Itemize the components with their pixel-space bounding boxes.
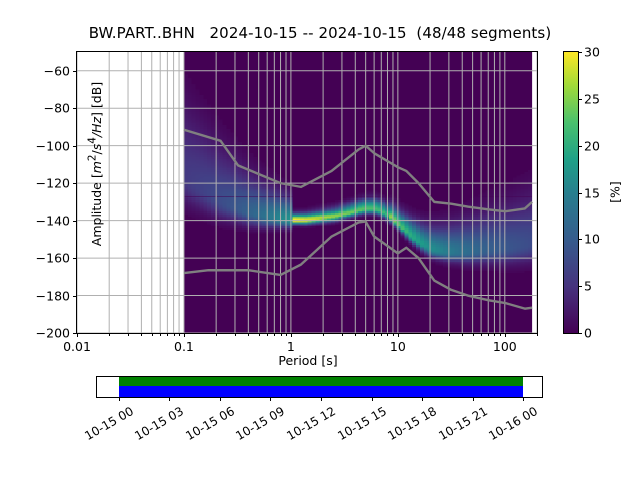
y-axis-tick-mark [73, 296, 77, 297]
x-axis-tick-label: 0.01 [63, 339, 91, 354]
x-axis-minor-tick-mark [381, 333, 382, 336]
y-axis-tick-mark [73, 108, 77, 109]
y-axis-label-exp2: 2 [87, 155, 99, 162]
colorbar-label: [%] [607, 181, 622, 203]
colorbar-tick-mark [578, 52, 582, 53]
coverage-tick-mark [372, 397, 373, 401]
x-axis-minor-tick-mark [259, 333, 260, 336]
x-axis-minor-tick-mark [430, 333, 431, 336]
x-axis-tick-mark [291, 333, 292, 337]
y-axis-tick-mark [73, 221, 77, 222]
coverage-tick-label: 10-15 18 [385, 404, 439, 443]
coverage-tick-mark [422, 397, 423, 401]
x-axis-tick-mark [398, 333, 399, 337]
x-axis-minor-tick-mark [323, 333, 324, 336]
x-axis-minor-tick-mark [109, 333, 110, 336]
x-axis-minor-tick-mark [449, 333, 450, 336]
x-axis-tick-mark [77, 333, 78, 337]
colorbar-tick-label: 15 [584, 185, 600, 200]
y-axis-label-s: s [89, 144, 104, 151]
x-axis-tick-label: 10 [390, 339, 406, 354]
coverage-segment-blue [119, 386, 523, 397]
colorbar-tick-label: 10 [584, 232, 600, 247]
colorbar-tick-mark [578, 239, 582, 240]
x-axis-tick-label: 100 [493, 339, 517, 354]
coverage-tick-mark [523, 397, 524, 401]
y-axis-label-suffix: ] [dB] [89, 82, 104, 117]
colorbar-tick-label: 5 [584, 279, 592, 294]
x-axis-minor-tick-mark [216, 333, 217, 336]
noise-model-curves [77, 52, 537, 333]
x-axis-minor-tick-mark [473, 333, 474, 336]
x-axis-minor-tick-mark [160, 333, 161, 336]
y-axis-tick-label: −100 [36, 138, 70, 153]
coverage-tick-mark [119, 397, 120, 401]
colorbar-tick-label: 25 [584, 91, 600, 106]
x-axis-minor-tick-mark [274, 333, 275, 336]
coverage-tick-mark [169, 397, 170, 401]
y-axis-label-exp4: 4 [87, 138, 99, 145]
x-axis-minor-tick-mark [267, 333, 268, 336]
page-title: BW.PART..BHN 2024-10-15 -- 2024-10-15 (4… [0, 24, 640, 42]
y-axis-label-slash: / [89, 151, 104, 155]
x-axis-minor-tick-mark [494, 333, 495, 336]
x-axis-minor-tick-mark [500, 333, 501, 336]
coverage-tick-label: 10-15 09 [233, 404, 287, 443]
coverage-tick-label: 10-15 06 [183, 404, 237, 443]
coverage-tick-mark [473, 397, 474, 401]
coverage-tick-label: 10-15 15 [335, 404, 389, 443]
y-axis-tick-label: −60 [44, 63, 70, 78]
colorbar: 051015202530 [563, 51, 579, 334]
x-axis-label: Period [s] [77, 353, 539, 368]
coverage-tick-mark [270, 397, 271, 401]
y-axis-tick-label: −80 [44, 101, 70, 116]
x-axis-minor-tick-mark [387, 333, 388, 336]
colorbar-tick-mark [578, 333, 582, 334]
y-axis-tick-mark [73, 183, 77, 184]
coverage-tick-label: 10-15 00 [82, 404, 136, 443]
x-axis-minor-tick-mark [128, 333, 129, 336]
x-axis-tick-mark [505, 333, 506, 337]
coverage-inner [97, 377, 542, 397]
coverage-tick-label: 10-15 03 [132, 404, 186, 443]
colorbar-tick-mark [578, 193, 582, 194]
x-axis-minor-tick-mark [462, 333, 463, 336]
colorbar-tick-label: 20 [584, 138, 600, 153]
x-axis-minor-tick-mark [167, 333, 168, 336]
x-axis-minor-tick-mark [179, 333, 180, 336]
x-axis-minor-tick-mark [141, 333, 142, 336]
y-axis-tick-mark [73, 146, 77, 147]
coverage-tick-mark [321, 397, 322, 401]
y-axis-label-m: m [89, 161, 104, 173]
coverage-tick-label: 10-15 21 [436, 404, 490, 443]
x-axis-minor-tick-mark [281, 333, 282, 336]
y-axis-tick-label: −160 [36, 251, 70, 266]
colorbar-tick-label: 30 [584, 45, 600, 60]
y-axis-label-prefix: Amplitude [ [89, 174, 104, 247]
x-axis-minor-tick-mark [152, 333, 153, 336]
x-axis-tick-label: 1 [287, 339, 295, 354]
x-axis-minor-tick-mark [393, 333, 394, 336]
coverage-segment-green [119, 377, 523, 386]
x-axis-minor-tick-mark [355, 333, 356, 336]
x-axis-minor-tick-mark [537, 333, 538, 336]
x-axis-minor-tick-mark [488, 333, 489, 336]
x-axis-minor-tick-mark [366, 333, 367, 336]
y-axis-tick-label: −120 [36, 176, 70, 191]
y-axis-label: Amplitude [m2/s4/Hz] [dB] [87, 82, 104, 246]
coverage-tick-label: 10-16 00 [486, 404, 540, 443]
y-axis-tick-mark [73, 258, 77, 259]
coverage-tick-mark [220, 397, 221, 401]
x-axis-minor-tick-mark [374, 333, 375, 336]
ppsd-axes: Amplitude [m2/s4/Hz] [dB] −200−180−160−1… [76, 51, 538, 334]
ppsd-plot-area [77, 52, 537, 333]
x-axis-minor-tick-mark [235, 333, 236, 336]
x-axis-minor-tick-mark [248, 333, 249, 336]
y-axis-tick-label: −180 [36, 288, 70, 303]
x-axis-minor-tick-mark [481, 333, 482, 336]
y-axis-label-hz: /Hz [89, 117, 104, 137]
colorbar-tick-label: 0 [584, 326, 592, 341]
coverage-tick-label: 10-15 12 [284, 404, 338, 443]
x-axis-tick-mark [184, 333, 185, 337]
x-axis-minor-tick-mark [286, 333, 287, 336]
x-axis-minor-tick-mark [342, 333, 343, 336]
y-axis-tick-mark [73, 71, 77, 72]
x-axis-minor-tick-mark [174, 333, 175, 336]
colorbar-tick-mark [578, 99, 582, 100]
data-coverage-bar: 10-15 0010-15 0310-15 0610-15 0910-15 12… [96, 376, 543, 398]
x-axis-tick-label: 0.1 [174, 339, 194, 354]
colorbar-tick-mark [578, 146, 582, 147]
colorbar-tick-mark [578, 286, 582, 287]
y-axis-tick-label: −140 [36, 213, 70, 228]
